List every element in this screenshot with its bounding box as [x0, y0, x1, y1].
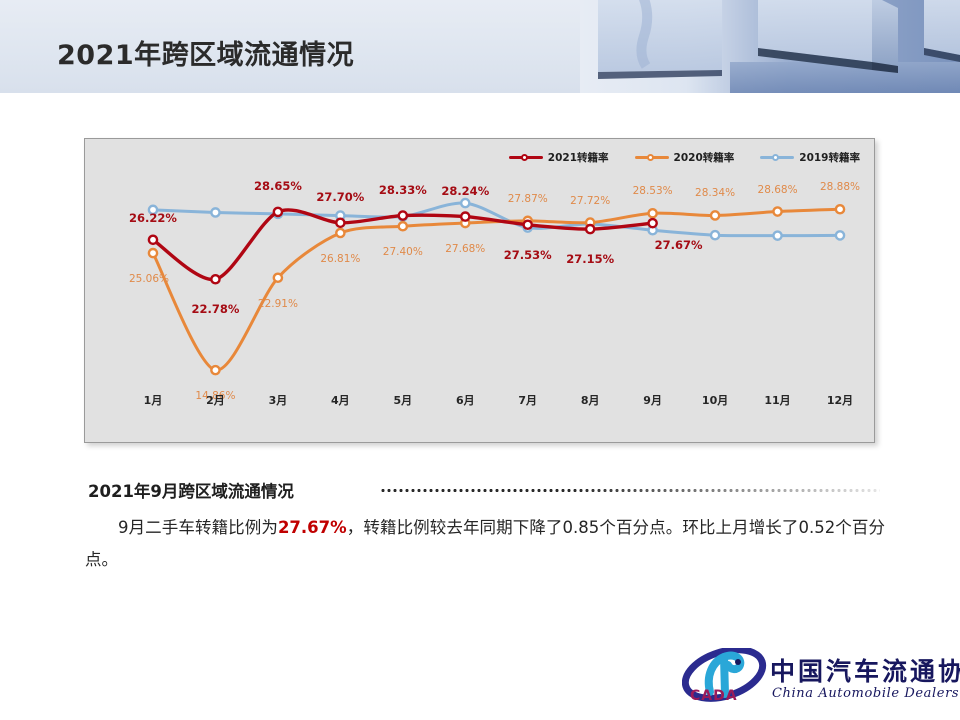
- data-point-marker[interactable]: [336, 219, 344, 227]
- body-text-highlight: 27.67%: [278, 518, 347, 537]
- data-point-marker[interactable]: [586, 225, 594, 233]
- x-axis-tick-8月: 8月: [581, 392, 600, 408]
- cada-abbrev: CADA: [690, 688, 738, 704]
- section-heading: 2021年9月跨区域流通情况: [88, 478, 294, 502]
- chart-x-axis: 1月2月3月4月5月6月7月8月9月10月11月12月: [85, 392, 874, 412]
- x-axis-tick-5月: 5月: [393, 392, 412, 408]
- data-point-marker[interactable]: [274, 274, 282, 282]
- data-point-marker[interactable]: [399, 222, 407, 230]
- data-point-marker[interactable]: [149, 206, 157, 214]
- data-point-marker[interactable]: [211, 208, 219, 216]
- data-point-marker[interactable]: [649, 209, 657, 217]
- data-point-marker[interactable]: [211, 275, 219, 283]
- data-point-marker[interactable]: [711, 231, 719, 239]
- x-axis-tick-2月: 2月: [206, 392, 225, 408]
- data-point-marker[interactable]: [711, 211, 719, 219]
- logo-chinese-name: 中国汽车流通协会: [770, 652, 960, 688]
- x-axis-tick-3月: 3月: [269, 392, 288, 408]
- chart-panel: 2021转籍率 2020转籍率 2019转籍率 26.22%22.78%28.6…: [84, 138, 875, 443]
- logo-english-name: China Automobile Dealers Association: [772, 686, 960, 701]
- data-point-marker[interactable]: [461, 213, 469, 221]
- data-point-marker[interactable]: [649, 219, 657, 227]
- header-decoration-cubes-icon: [580, 0, 960, 93]
- x-axis-tick-12月: 12月: [827, 392, 853, 408]
- data-point-marker[interactable]: [836, 231, 844, 239]
- x-axis-tick-6月: 6月: [456, 392, 475, 408]
- data-point-marker[interactable]: [524, 221, 532, 229]
- x-axis-tick-4月: 4月: [331, 392, 350, 408]
- cada-logo: CADA 中国汽车流通协会 China Automobile Dealers A…: [682, 648, 950, 714]
- data-point-marker[interactable]: [149, 236, 157, 244]
- section-body-text: 9月二手车转籍比例为27.67%，转籍比例较去年同期下降了0.85个百分点。环比…: [85, 512, 885, 576]
- x-axis-tick-10月: 10月: [702, 392, 728, 408]
- x-axis-tick-1月: 1月: [144, 392, 163, 408]
- data-point-marker[interactable]: [836, 205, 844, 213]
- section-divider: [380, 489, 880, 492]
- slide-header: 2021年跨区域流通情况: [0, 0, 960, 93]
- data-point-marker[interactable]: [336, 229, 344, 237]
- data-point-marker[interactable]: [773, 232, 781, 240]
- data-point-marker[interactable]: [211, 366, 219, 374]
- x-axis-tick-11月: 11月: [764, 392, 790, 408]
- data-point-marker[interactable]: [773, 207, 781, 215]
- data-point-marker[interactable]: [461, 199, 469, 207]
- data-point-marker[interactable]: [274, 208, 282, 216]
- slide-root: 2021年跨区域流通情况 2021转籍率 2020转籍率 2019转籍率: [0, 0, 960, 720]
- body-text-before: 9月二手车转籍比例为: [118, 518, 278, 537]
- x-axis-tick-7月: 7月: [518, 392, 537, 408]
- data-point-marker[interactable]: [149, 249, 157, 257]
- x-axis-tick-9月: 9月: [643, 392, 662, 408]
- data-point-marker[interactable]: [399, 211, 407, 219]
- page-title: 2021年跨区域流通情况: [57, 33, 354, 72]
